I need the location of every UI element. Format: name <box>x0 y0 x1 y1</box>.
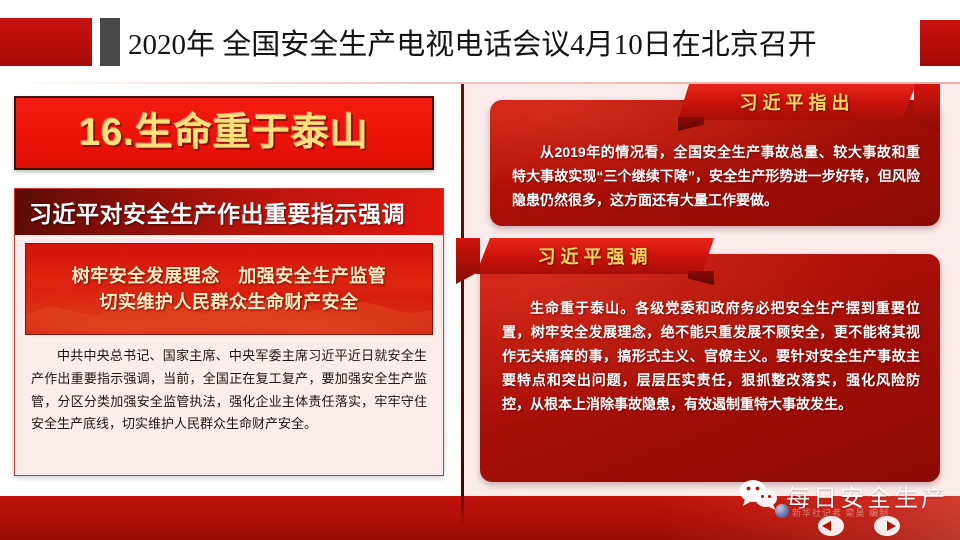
ribbon-banner-2-text: 习近平强调 <box>538 243 653 269</box>
page-title: 2020年 全国安全生产电视电话会议4月10日在北京召开 <box>128 16 817 68</box>
nav-arrows <box>818 516 936 538</box>
ribbon-2-flag <box>456 238 480 284</box>
directive-card-header: 习近平对安全生产作出重要指示强调 <box>15 189 443 235</box>
directive-card-body: 树牢安全发展理念 加强安全生产监管 切实维护人民群众生命财产安全 中共中央总书记… <box>15 235 443 477</box>
header-red-block-left <box>0 18 92 66</box>
slide-stage: 16.生命重于泰山 习近平对安全生产作出重要指示强调 树牢安全发展理念 加强安全… <box>0 84 960 496</box>
slogan-line-2: 切实维护人民群众生命财产安全 <box>100 289 359 315</box>
section-title-banner: 16.生命重于泰山 <box>14 96 434 170</box>
ribbon-banner-2: 习近平强调 <box>476 238 714 274</box>
left-column: 16.生命重于泰山 习近平对安全生产作出重要指示强调 树牢安全发展理念 加强安全… <box>0 84 462 496</box>
directive-paragraph: 中共中央总书记、国家主席、中央军委主席习近平近日就安全生产作出重要指示强调，当前… <box>25 345 433 436</box>
header-gray-bar <box>100 18 120 66</box>
directive-card-header-text: 习近平对安全生产作出重要指示强调 <box>29 195 405 229</box>
previous-arrow-triangle <box>822 521 831 531</box>
wechat-icon <box>738 478 778 512</box>
slogan-box: 树牢安全发展理念 加强安全生产监管 切实维护人民群众生命财产安全 <box>25 243 433 335</box>
directive-card: 习近平对安全生产作出重要指示强调 树牢安全发展理念 加强安全生产监管 切实维护人… <box>14 188 444 476</box>
right-column: 从2019年的情况看，全国安全生产事故总量、较大事故和重特大事故实现“三个继续下… <box>464 84 960 496</box>
ribbon-banner-1: 习近平指出 <box>678 84 916 120</box>
previous-arrow-icon[interactable] <box>818 516 844 536</box>
column-divider-bottom <box>461 496 464 526</box>
next-arrow-icon[interactable] <box>874 516 900 536</box>
quote-box-1-text: 从2019年的情况看，全国安全生产事故总量、较大事故和重特大事故实现“三个继续下… <box>512 140 920 212</box>
globe-icon <box>775 504 789 518</box>
slogan-line-1: 树牢安全发展理念 加强安全生产监管 <box>72 263 387 289</box>
page-header: 2020年 全国安全生产电视电话会议4月10日在北京召开 <box>0 0 960 84</box>
ribbon-banner-1-text: 习近平指出 <box>740 89 855 115</box>
header-red-block-right <box>920 20 960 66</box>
next-arrow-triangle <box>887 521 896 531</box>
quote-box-2-text: 生命重于泰山。各级党委和政府务必把安全生产摆到重要位置，树牢安全发展理念，绝不能… <box>502 296 920 416</box>
quote-box-2: 生命重于泰山。各级党委和政府务必把安全生产摆到重要位置，树牢安全发展理念，绝不能… <box>480 254 940 482</box>
section-title-text: 16.生命重于泰山 <box>79 114 369 152</box>
